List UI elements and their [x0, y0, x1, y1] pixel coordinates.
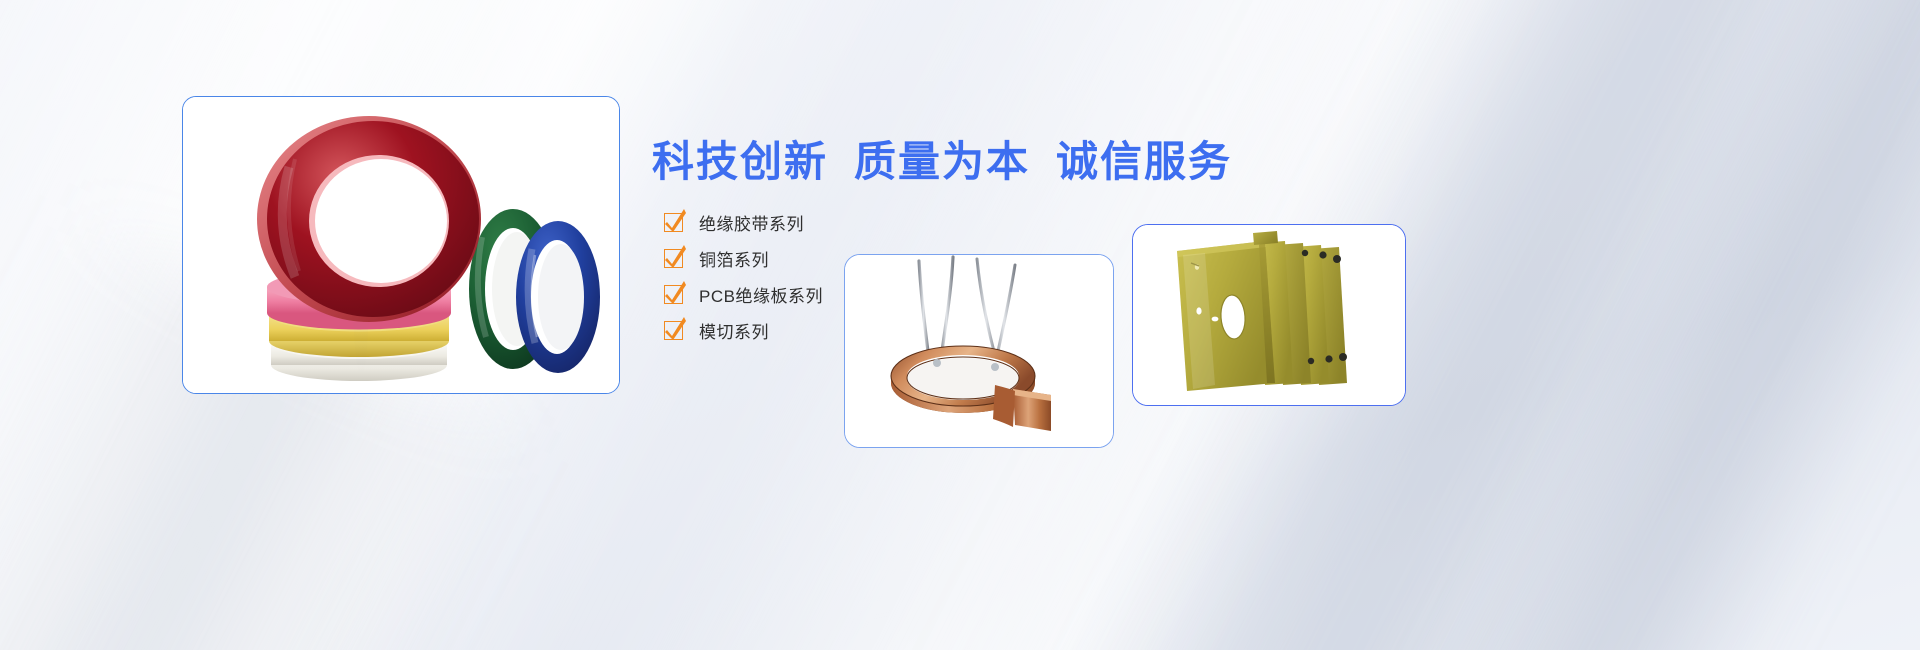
- product-series-list: 绝缘胶带系列 铜箔系列 PCB绝缘板系列: [664, 204, 823, 348]
- headline-segment-3: 诚信服务: [1056, 138, 1232, 185]
- list-item[interactable]: PCB绝缘板系列: [664, 276, 823, 312]
- product-banner: 科技创新质量为本诚信服务 绝缘胶带系列 铜箔系列: [0, 0, 1920, 650]
- pcb-board-card[interactable]: [1132, 224, 1406, 406]
- list-item[interactable]: 模切系列: [664, 312, 823, 348]
- tape-roll-blue: [516, 221, 600, 373]
- pcb-board-photo: [1133, 225, 1405, 405]
- tape-rolls-illustration: [183, 97, 619, 393]
- list-item-label: 铜箔系列: [699, 246, 769, 271]
- list-item-label: PCB绝缘板系列: [699, 282, 823, 307]
- insulation-tape-card[interactable]: [182, 96, 620, 394]
- insulation-tape-photo: [183, 97, 619, 393]
- checkmark-glyph: [662, 207, 688, 235]
- checkmark-glyph: [662, 279, 688, 307]
- list-item[interactable]: 绝缘胶带系列: [664, 204, 823, 240]
- copper-foil-illustration: [845, 255, 1113, 447]
- headline-segment-1: 科技创新: [652, 138, 828, 185]
- orange-checkbox-icon: [664, 249, 683, 268]
- orange-checkbox-icon: [664, 285, 683, 304]
- list-item-label: 模切系列: [699, 318, 769, 343]
- list-item-label: 绝缘胶带系列: [699, 210, 804, 235]
- list-item[interactable]: 铜箔系列: [664, 240, 823, 276]
- pcb-plate-front: [1177, 231, 1278, 391]
- copper-foil-card[interactable]: [844, 254, 1114, 448]
- orange-checkbox-icon: [664, 213, 683, 232]
- checkmark-glyph: [662, 315, 688, 343]
- orange-checkbox-icon: [664, 321, 683, 340]
- pcb-boards-illustration: [1133, 225, 1405, 405]
- banner-headline: 科技创新质量为本诚信服务: [652, 128, 1232, 189]
- checkmark-glyph: [662, 243, 688, 271]
- copper-foil-photo: [845, 255, 1113, 447]
- headline-segment-2: 质量为本: [854, 138, 1030, 185]
